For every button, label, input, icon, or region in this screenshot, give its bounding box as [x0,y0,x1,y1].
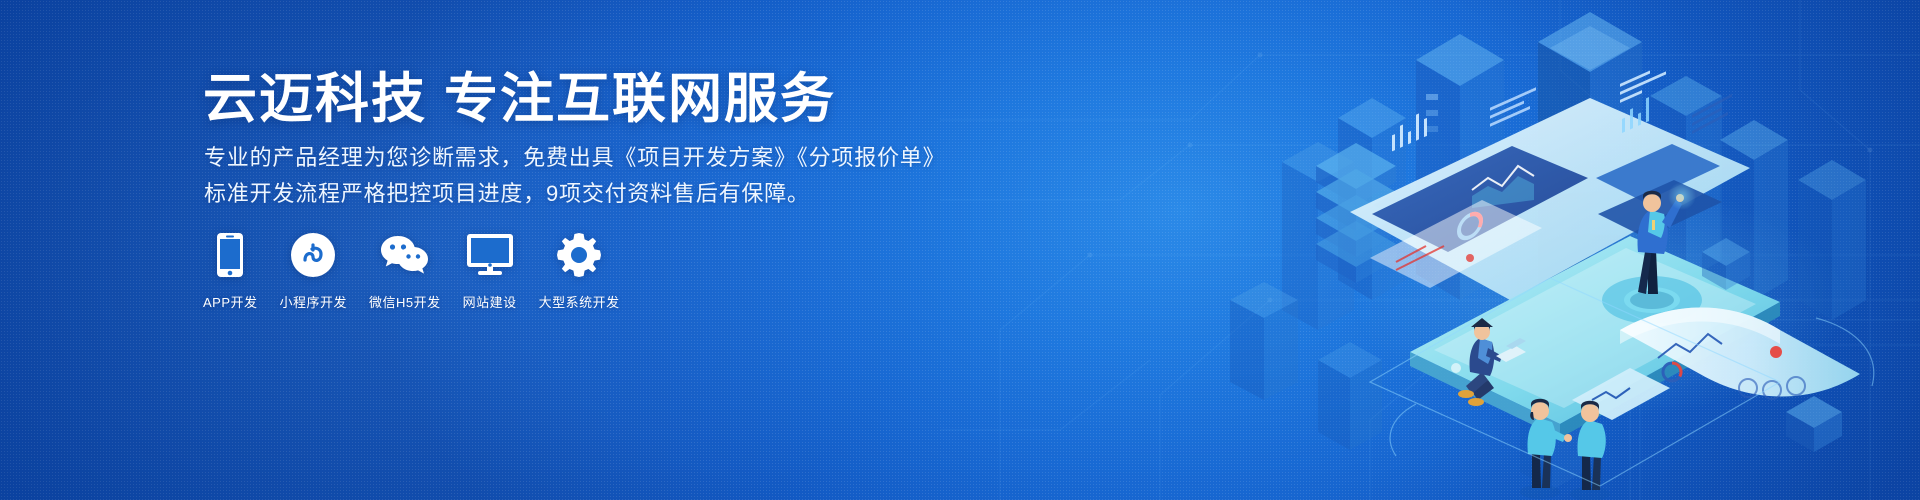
mini-program-icon [291,232,335,278]
subtitle-line-1: 专业的产品经理为您诊断需求，免费出具《项目开发方案》《分项报价单》 [204,147,945,169]
mobile-phone-icon [217,232,243,278]
service-item-app[interactable]: APP开发 [203,232,258,311]
gear-icon [557,232,601,278]
hero-banner: 云迈科技 专注互联网服务 专业的产品经理为您诊断需求，免费出具《项目开发方案》《… [0,0,1920,500]
service-label: APP开发 [203,292,258,311]
service-icon-list: APP开发 小程序开发 [203,232,620,311]
page-title: 云迈科技 专注互联网服务 [203,68,836,131]
service-label: 小程序开发 [280,292,348,311]
service-label: 网站建设 [463,292,517,311]
service-item-website[interactable]: 网站建设 [463,232,517,311]
service-label: 大型系统开发 [539,292,620,311]
service-label: 微信H5开发 [369,292,441,311]
service-item-miniprogram[interactable]: 小程序开发 [280,232,348,311]
monitor-icon [467,232,513,278]
service-item-wechat-h5[interactable]: 微信H5开发 [369,232,441,311]
hero-illustration [1220,0,1920,500]
isometric-illustration-svg [1220,0,1920,500]
subtitle-line-2: 标准开发流程严格把控项目进度，9项交付资料售后有保障。 [204,183,810,205]
banner-copy: 云迈科技 专注互联网服务 专业的产品经理为您诊断需求，免费出具《项目开发方案》《… [203,0,963,500]
hand-glow [1668,182,1696,210]
wechat-icon [380,232,430,278]
service-item-large-system[interactable]: 大型系统开发 [539,232,620,311]
